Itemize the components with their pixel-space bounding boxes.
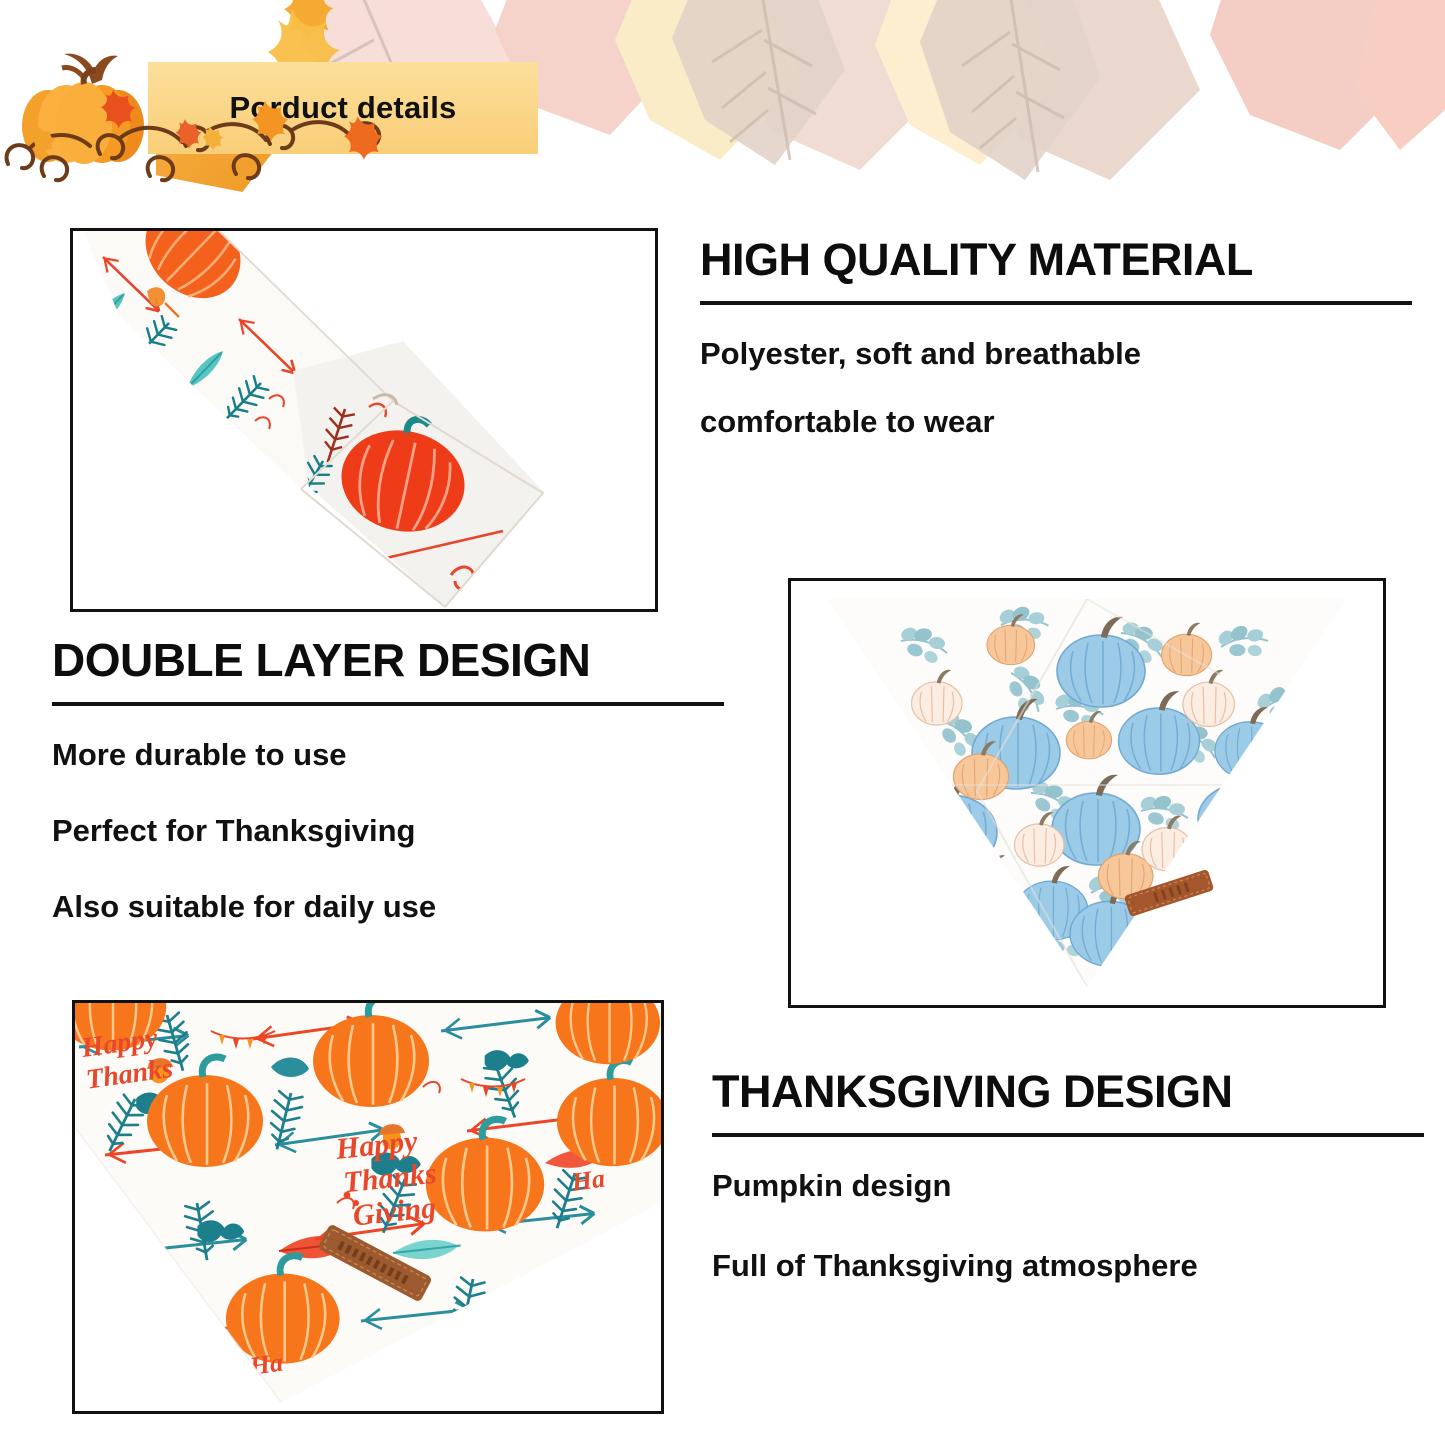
svg-text:Ha: Ha — [569, 1164, 607, 1197]
folded-bandana-photo — [70, 228, 658, 612]
product-details-infographic: Porduct details — [0, 0, 1445, 1445]
feature-line: Perfect for Thanksgiving — [52, 812, 724, 850]
feature-high-quality-material: HIGH QUALITY MATERIAL Polyester, soft an… — [700, 236, 1412, 441]
feature-line: Polyester, soft and breathable — [700, 335, 1412, 373]
feature-title: HIGH QUALITY MATERIAL — [700, 236, 1412, 283]
feature-divider — [712, 1133, 1424, 1137]
feature-divider — [52, 702, 724, 706]
header-banner: Porduct details — [0, 0, 1445, 205]
feature-line: Also suitable for daily use — [52, 888, 724, 926]
feature-thanksgiving-design: THANKSGIVING DESIGN Pumpkin design Full … — [712, 1068, 1424, 1327]
feature-title: DOUBLE LAYER DESIGN — [52, 636, 724, 684]
feature-line: comfortable to wear — [700, 403, 1412, 441]
thanksgiving-bandana-photo: Happy Thanks Giving Happy Thanks Ha Ha — [72, 1000, 664, 1414]
feature-double-layer-design: DOUBLE LAYER DESIGN More durable to use … — [52, 636, 724, 964]
feature-line: More durable to use — [52, 736, 724, 774]
leaf-swirl-icon — [0, 88, 430, 203]
feature-title: THANKSGIVING DESIGN — [712, 1068, 1424, 1115]
blue-pumpkin-bandana-photo — [788, 578, 1386, 1008]
feature-divider — [700, 301, 1412, 305]
feature-line: Pumpkin design — [712, 1167, 1424, 1205]
feature-line: Full of Thanksgiving atmosphere — [712, 1247, 1424, 1285]
